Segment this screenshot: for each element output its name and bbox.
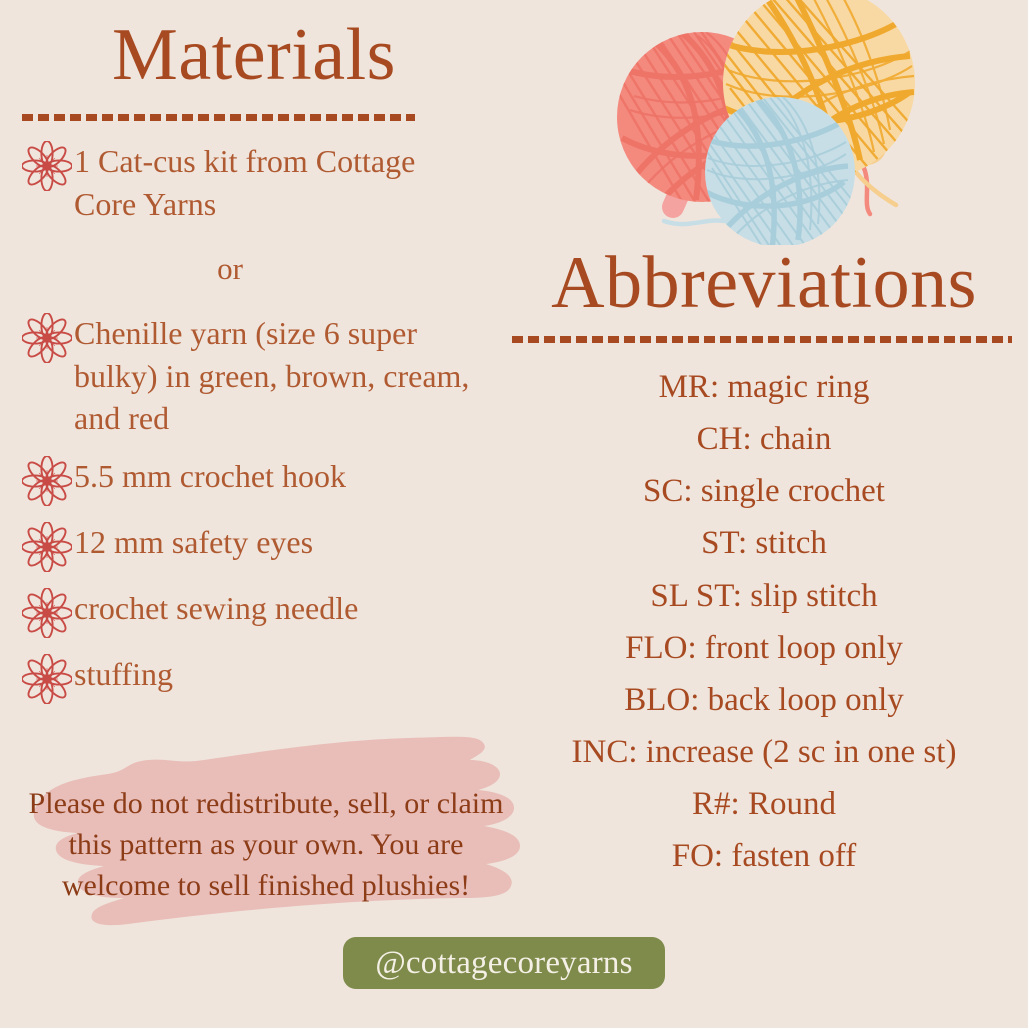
handle-label: @cottagecoreyarns <box>375 945 632 982</box>
materials-item-text: 1 Cat-cus kit from Cottage Core Yarns <box>74 139 474 225</box>
abbreviation-item: INC: increase (2 sc in one st) <box>506 726 1022 778</box>
materials-list-item: Chenille yarn (size 6 super bulky) in gr… <box>0 311 500 440</box>
abbreviation-item: R#: Round <box>506 778 1022 830</box>
blue-thread <box>664 220 731 224</box>
flower-bullet-icon <box>22 141 72 191</box>
materials-item-text: 5.5 mm crochet hook <box>74 454 500 498</box>
flower-bullet-icon <box>22 522 72 572</box>
abbreviation-item: SL ST: slip stitch <box>506 570 1022 622</box>
materials-list-item: crochet sewing needle <box>0 586 500 638</box>
materials-item-text: stuffing <box>74 652 500 696</box>
yarn-balls-graphic <box>530 0 1028 245</box>
abbreviations-divider <box>512 336 1012 343</box>
materials-item-text: Chenille yarn (size 6 super bulky) in gr… <box>74 311 474 440</box>
abbreviations-title: Abbreviations <box>506 246 1022 320</box>
abbreviations-section: Abbreviations MR: magic ring CH: chain S… <box>506 246 1022 882</box>
flower-bullet-icon <box>22 654 72 704</box>
abbreviation-item: FLO: front loop only <box>506 622 1022 674</box>
flower-bullet-icon <box>22 313 72 363</box>
abbreviation-item: MR: magic ring <box>506 361 1022 413</box>
materials-list-item: 5.5 mm crochet hook <box>0 454 500 506</box>
abbreviation-item: CH: chain <box>506 413 1022 465</box>
materials-list-item: 12 mm safety eyes <box>0 520 500 572</box>
materials-item-text: crochet sewing needle <box>74 586 500 630</box>
materials-list-item: stuffing <box>0 652 500 704</box>
yarn-illustration <box>530 0 1028 245</box>
materials-divider <box>22 114 415 121</box>
flower-bullet-icon <box>22 456 72 506</box>
pattern-page: Materials <box>0 0 1028 1028</box>
instagram-handle-badge[interactable]: @cottagecoreyarns <box>343 937 665 989</box>
materials-title: Materials <box>0 18 500 92</box>
flower-bullet-icon <box>22 588 72 638</box>
abbreviations-list: MR: magic ring CH: chain SC: single croc… <box>506 361 1022 882</box>
abbreviation-item: FO: fasten off <box>506 830 1022 882</box>
disclaimer-block: Please do not redistribute, sell, or cla… <box>8 712 548 947</box>
abbreviation-item: SC: single crochet <box>506 465 1022 517</box>
materials-section: Materials <box>0 18 500 706</box>
disclaimer-text: Please do not redistribute, sell, or cla… <box>26 784 506 906</box>
materials-list-item: 1 Cat-cus kit from Cottage Core Yarns <box>0 139 500 225</box>
materials-list: 1 Cat-cus kit from Cottage Core Yarns or <box>0 139 500 704</box>
abbreviation-item: BLO: back loop only <box>506 674 1022 726</box>
abbreviation-item: ST: stitch <box>506 517 1022 569</box>
materials-separator: or <box>0 251 500 287</box>
materials-item-text: 12 mm safety eyes <box>74 520 500 564</box>
